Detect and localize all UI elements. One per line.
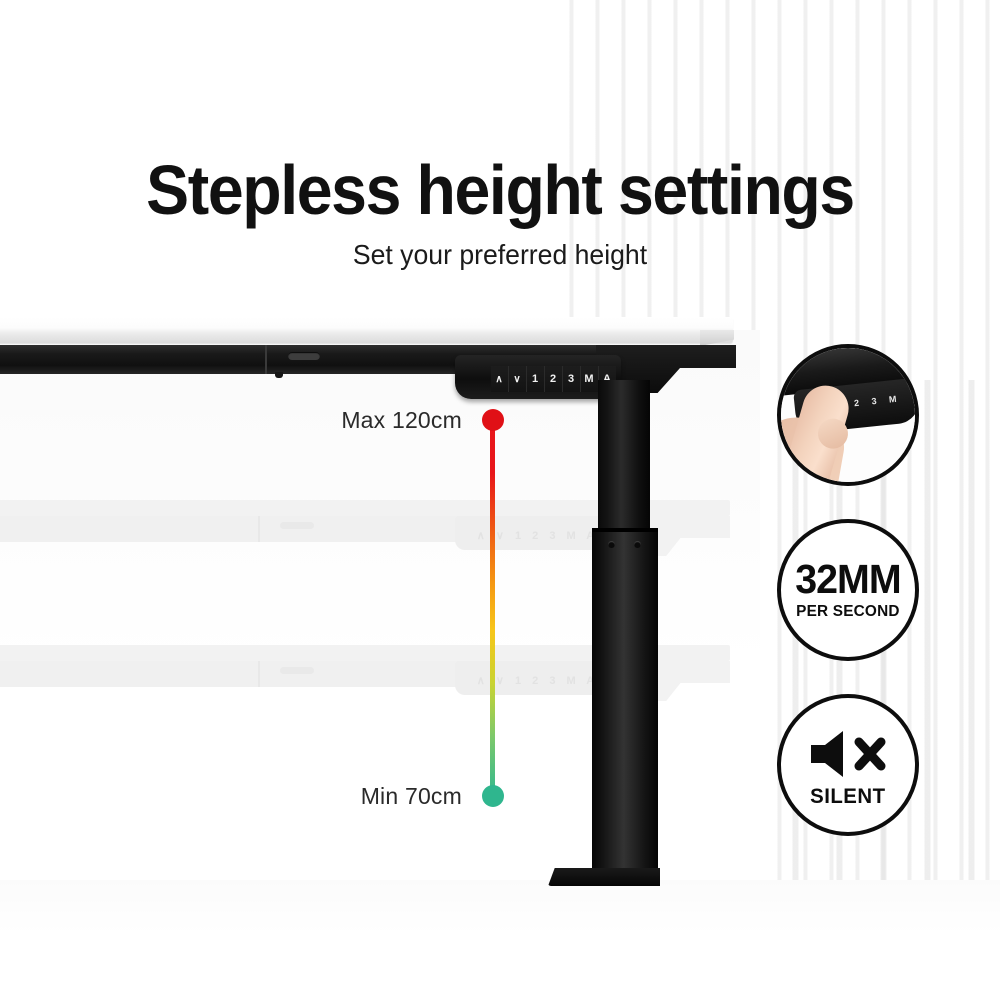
photo-fingertip (814, 415, 851, 452)
leg-screw-hole (608, 541, 615, 548)
min-height-marker-dot (482, 785, 504, 807)
touch-control-photo: 1 2 3 M A (781, 348, 915, 482)
lift-speed-caption: PER SECOND (796, 603, 899, 621)
mute-speaker-icon (805, 727, 891, 781)
control-panel[interactable]: ∧ ∨ 1 2 3 M A (455, 355, 621, 399)
ghost-beam-slot (280, 522, 314, 529)
silent-motor-content: SILENT (781, 698, 915, 832)
key-preset-1[interactable]: 1 (526, 366, 544, 392)
desk-leg-column-cap (592, 528, 658, 532)
key-preset-2[interactable]: 2 (544, 366, 562, 392)
ghost-beam-seam (258, 516, 260, 542)
max-height-label: Max 120cm (210, 407, 462, 434)
desk-leg-inner-column (598, 380, 650, 532)
page-title: Stepless height settings (40, 152, 960, 228)
badge-touch-control: 1 2 3 M A (777, 344, 919, 486)
key-up-icon[interactable]: ∧ (491, 366, 508, 392)
background-floor (0, 880, 1000, 1000)
ghost-beam-seam (258, 661, 260, 687)
desk-beam-cable-slot (288, 352, 320, 360)
lift-speed-content: 32MM PER SECOND (781, 523, 915, 657)
desk-leg-foot (548, 868, 660, 886)
ghost-beam-slot (280, 667, 314, 674)
max-height-marker-dot (482, 409, 504, 431)
product-feature-image: Stepless height settings Set your prefer… (0, 0, 1000, 1000)
key-memory[interactable]: M (580, 366, 598, 392)
control-panel-keys: ∧ ∨ 1 2 3 M A (491, 366, 616, 392)
desk-tabletop (0, 317, 733, 343)
desk-beam-nub (275, 372, 283, 378)
lift-speed-value: 32MM (795, 559, 901, 599)
leg-screw-hole (634, 541, 641, 548)
badge-silent-motor: SILENT (777, 694, 919, 836)
height-range-gradient-line (490, 420, 495, 796)
min-height-label: Min 70cm (210, 783, 462, 810)
silent-motor-caption: SILENT (810, 785, 885, 809)
key-down-icon[interactable]: ∨ (508, 366, 526, 392)
desk-beam-seam (265, 345, 267, 374)
page-subtitle: Set your preferred height (25, 238, 975, 272)
key-preset-3[interactable]: 3 (562, 366, 580, 392)
desk-leg-outer-column (592, 528, 658, 886)
badge-lift-speed: 32MM PER SECOND (777, 519, 919, 661)
